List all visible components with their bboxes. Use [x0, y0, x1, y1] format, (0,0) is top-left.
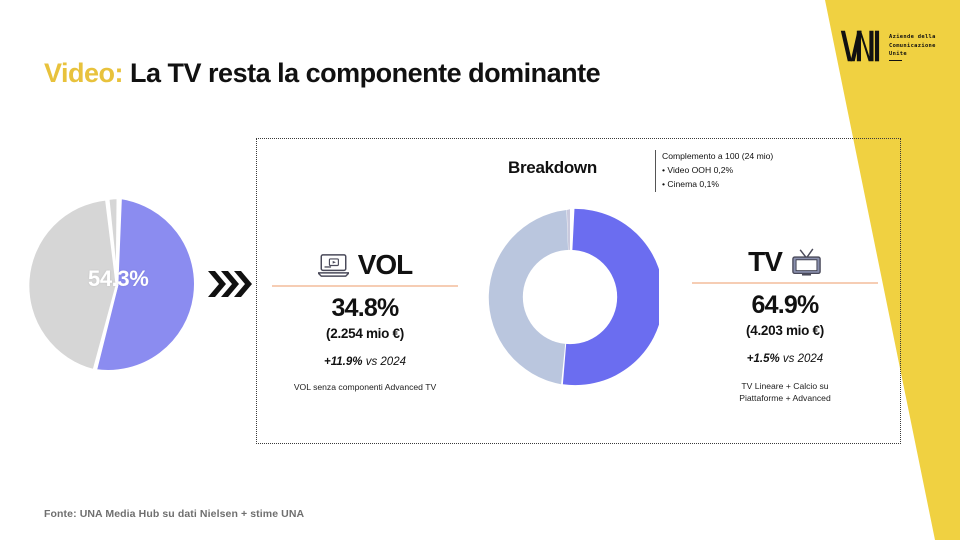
title-accent: Video:: [44, 58, 123, 88]
breakdown-donut-chart: [481, 208, 659, 386]
vna-logomark-icon: [840, 30, 882, 62]
metric-vol: VOL 34.8% (2.254 mio €) +11.9% vs 2024 V…: [272, 248, 458, 394]
television-icon: [791, 248, 822, 277]
metric-vol-percent: 34.8%: [272, 296, 458, 321]
metric-tv-footnote-line-1: TV Lineare + Calcio su: [692, 381, 878, 393]
triple-chevron-right-icon: [206, 268, 252, 300]
metric-tv-delta-note: vs 2024: [783, 353, 823, 365]
una-logo: Aziende della Comunicazione Unite: [840, 30, 936, 62]
title-rest: La TV resta la componente dominante: [130, 58, 600, 88]
metric-tv: TV 64.9% (4.203 mio €) +1.5% vs 2024 TV …: [692, 245, 878, 404]
page-title: Video: La TV resta la componente dominan…: [44, 58, 600, 89]
metric-vol-head: VOL: [272, 248, 458, 282]
logo-underline: [889, 60, 902, 61]
donut-hole: [523, 250, 617, 344]
logo-line-1: Aziende della: [889, 34, 936, 40]
metric-vol-delta: +11.9% vs 2024: [272, 356, 458, 368]
chevron-group-svg: [206, 268, 252, 300]
metric-vol-name: VOL: [358, 251, 413, 279]
pie-value-label: 54.3%: [88, 266, 208, 292]
complement-note: Complemento a 100 (24 mio) • Video OOH 0…: [655, 150, 773, 192]
metric-tv-delta-value: +1.5%: [747, 353, 780, 365]
metric-tv-name: TV: [748, 248, 782, 276]
logo-wordmark-text: Aziende della Comunicazione Unite: [889, 30, 936, 61]
metric-tv-delta: +1.5% vs 2024: [692, 353, 878, 365]
metric-tv-absolute: (4.203 mio €): [692, 323, 878, 338]
metric-vol-footnote: VOL senza componenti Advanced TV: [272, 382, 458, 394]
laptop-play-icon: [318, 253, 349, 278]
metric-vol-delta-note: vs 2024: [366, 356, 406, 368]
metric-tv-percent: 64.9%: [692, 293, 878, 318]
metric-tv-footnote: TV Lineare + Calcio su Piattaforme + Adv…: [692, 381, 878, 404]
slide-root: Aziende della Comunicazione Unite Video:…: [0, 0, 960, 540]
metric-vol-delta-value: +11.9%: [324, 356, 362, 368]
video-share-pie-chart: 54.3%: [28, 196, 206, 374]
breakdown-heading: Breakdown: [508, 158, 597, 178]
logo-line-3: Unite: [889, 51, 907, 57]
source-footer: Fonte: UNA Media Hub su dati Nielsen + s…: [44, 508, 304, 520]
metric-tv-head: TV: [692, 245, 878, 279]
metric-vol-absolute: (2.254 mio €): [272, 326, 458, 341]
metric-vol-underline: [272, 285, 458, 287]
logo-line-2: Comunicazione: [889, 43, 936, 49]
metric-tv-underline: [692, 282, 878, 284]
note-line-2: • Video OOH 0,2%: [662, 164, 773, 178]
note-line-1: Complemento a 100 (24 mio): [662, 150, 773, 164]
metric-tv-footnote-line-2: Piattaforme + Advanced: [692, 393, 878, 405]
note-line-3: • Cinema 0,1%: [662, 178, 773, 192]
donut-svg: [481, 208, 659, 386]
